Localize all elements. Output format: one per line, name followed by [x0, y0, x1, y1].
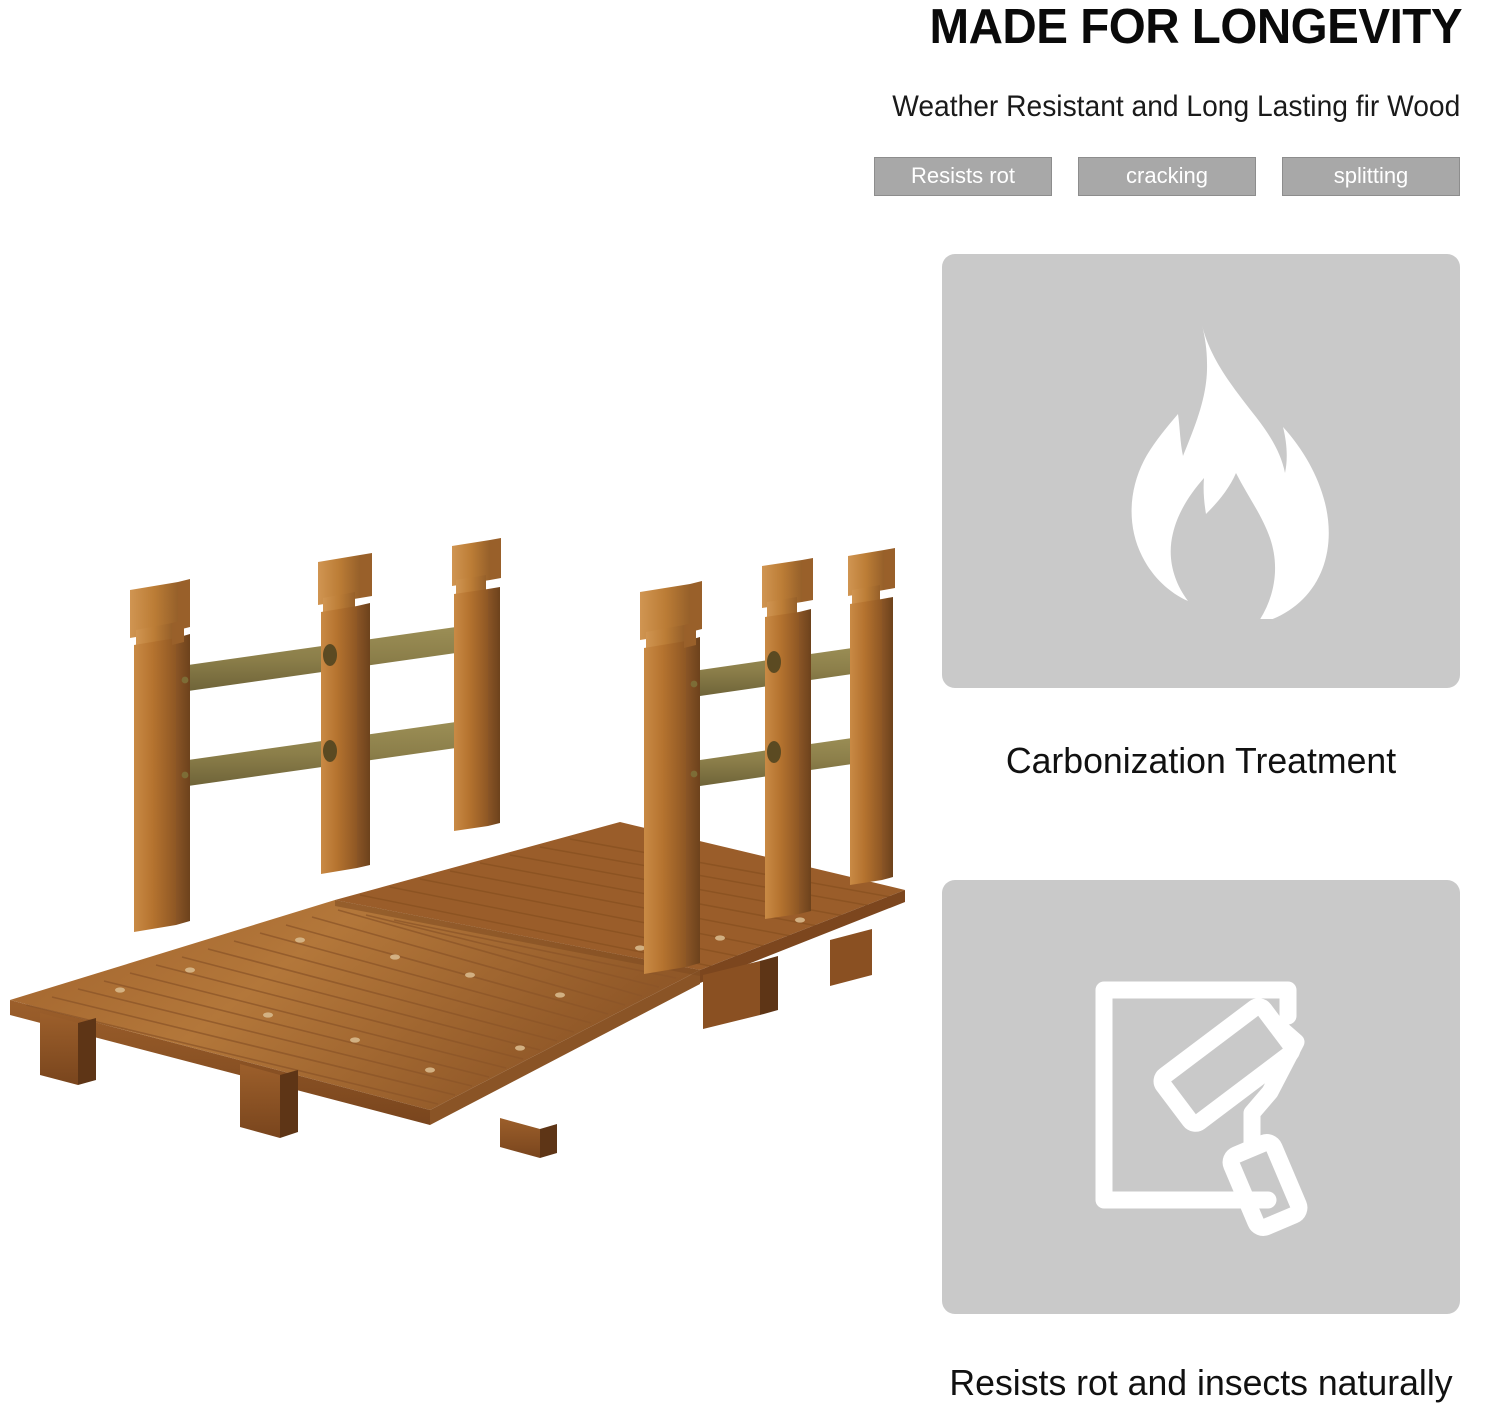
page-subtitle: Weather Resistant and Long Lasting fir W…	[892, 90, 1460, 124]
pill-resists-rot: Resists rot	[874, 157, 1052, 196]
feature-card-carbonization: Carbonization Treatment	[942, 254, 1460, 782]
railing-post	[130, 579, 190, 932]
railing-post	[762, 558, 813, 919]
flame-icon	[1071, 319, 1331, 624]
railing-post	[848, 548, 895, 885]
feature-card-icon-panel	[942, 254, 1460, 688]
header-block: MADE FOR LONGEVITY Weather Resistant and…	[620, 0, 1480, 200]
product-image-garden-bridge	[0, 470, 940, 1190]
feature-pill-row: Resists rot cracking splitting	[874, 157, 1460, 196]
pill-splitting: splitting	[1282, 157, 1460, 196]
railing-post	[640, 581, 702, 974]
railing-post	[318, 553, 372, 874]
railing-post	[452, 538, 501, 831]
feature-caption-carbonization: Carbonization Treatment	[945, 740, 1458, 782]
page-title: MADE FOR LONGEVITY	[929, 2, 1462, 53]
feature-card-icon-panel	[942, 880, 1460, 1314]
paint-roller-icon	[1056, 950, 1346, 1245]
feature-card-rot-resistance: Resists rot and insects naturally	[942, 880, 1460, 1404]
feature-caption-rot-resistance: Resists rot and insects naturally	[945, 1362, 1458, 1404]
pill-cracking: cracking	[1078, 157, 1256, 196]
